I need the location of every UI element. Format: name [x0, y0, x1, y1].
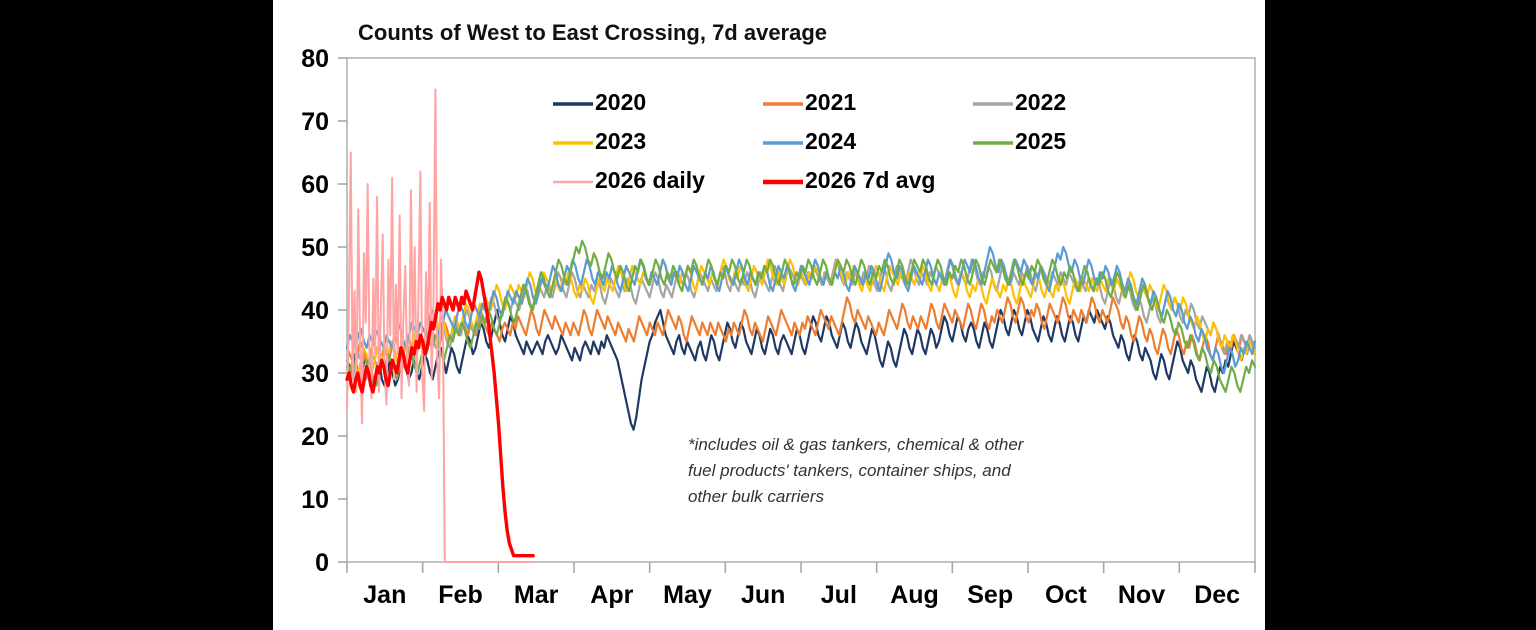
footnote-line-2: fuel products' tankers, container ships,…	[688, 461, 1011, 480]
legend-label: 2022	[1015, 89, 1066, 115]
chart-title: Counts of West to East Crossing, 7d aver…	[358, 20, 827, 45]
chart-panel: 01020304050607080 JanFebMarAprMayJunJulA…	[273, 0, 1265, 630]
legend-item-2023[interactable]: 2023	[553, 128, 646, 154]
legend-label: 2026 daily	[595, 167, 705, 193]
line-chart[interactable]: 01020304050607080 JanFebMarAprMayJunJulA…	[273, 0, 1265, 630]
legend-item-2026-7d-avg[interactable]: 2026 7d avg	[763, 167, 935, 193]
x-tick-label-feb: Feb	[438, 581, 482, 609]
footnote-line-3: other bulk carriers	[688, 487, 825, 506]
legend-item-2025[interactable]: 2025	[973, 128, 1066, 154]
x-tick-label-oct: Oct	[1045, 581, 1087, 609]
footnote-line-1: *includes oil & gas tankers, chemical & …	[688, 435, 1025, 454]
y-tick-label: 0	[315, 549, 329, 577]
x-tick-label-sep: Sep	[967, 581, 1013, 609]
y-tick-label: 70	[301, 108, 329, 136]
y-tick-label: 30	[301, 360, 329, 388]
x-tick-label-jan: Jan	[363, 581, 406, 609]
legend-item-2022[interactable]: 2022	[973, 89, 1066, 115]
x-tick-label-nov: Nov	[1118, 581, 1165, 609]
chart-svg[interactable]: 01020304050607080 JanFebMarAprMayJunJulA…	[273, 0, 1265, 630]
y-tick-label: 60	[301, 171, 329, 199]
legend-label: 2021	[805, 89, 856, 115]
legend-item-2021[interactable]: 2021	[763, 89, 856, 115]
x-tick-label-apr: Apr	[590, 581, 633, 609]
x-tick-label-dec: Dec	[1194, 581, 1240, 609]
legend-label: 2023	[595, 128, 646, 154]
y-tick-label: 80	[301, 45, 329, 73]
x-axis: JanFebMarAprMayJunJulAugSepOctNovDec	[347, 562, 1255, 609]
x-tick-label-mar: Mar	[514, 581, 559, 609]
x-tick-label-aug: Aug	[890, 581, 939, 609]
y-tick-label: 50	[301, 234, 329, 262]
legend-label: 2024	[805, 128, 856, 154]
screenshot-stage: 01020304050607080 JanFebMarAprMayJunJulA…	[0, 0, 1536, 630]
y-axis: 01020304050607080	[301, 45, 347, 577]
legend-item-2026-daily[interactable]: 2026 daily	[553, 167, 705, 193]
y-tick-label: 40	[301, 297, 329, 325]
footnote-group: *includes oil & gas tankers, chemical & …	[688, 435, 1025, 506]
legend-label: 2020	[595, 89, 646, 115]
chart-title-group: Counts of West to East Crossing, 7d aver…	[358, 20, 827, 45]
legend-label: 2026 7d avg	[805, 167, 935, 193]
x-tick-label-jul: Jul	[821, 581, 857, 609]
legend-item-2024[interactable]: 2024	[763, 128, 856, 154]
chart-legend[interactable]: 2020202120222023202420252026 daily2026 7…	[553, 89, 1066, 193]
y-tick-label: 20	[301, 423, 329, 451]
x-tick-label-may: May	[663, 581, 712, 609]
x-tick-label-jun: Jun	[741, 581, 785, 609]
legend-label: 2025	[1015, 128, 1066, 154]
y-tick-label: 10	[301, 486, 329, 514]
legend-item-2020[interactable]: 2020	[553, 89, 646, 115]
